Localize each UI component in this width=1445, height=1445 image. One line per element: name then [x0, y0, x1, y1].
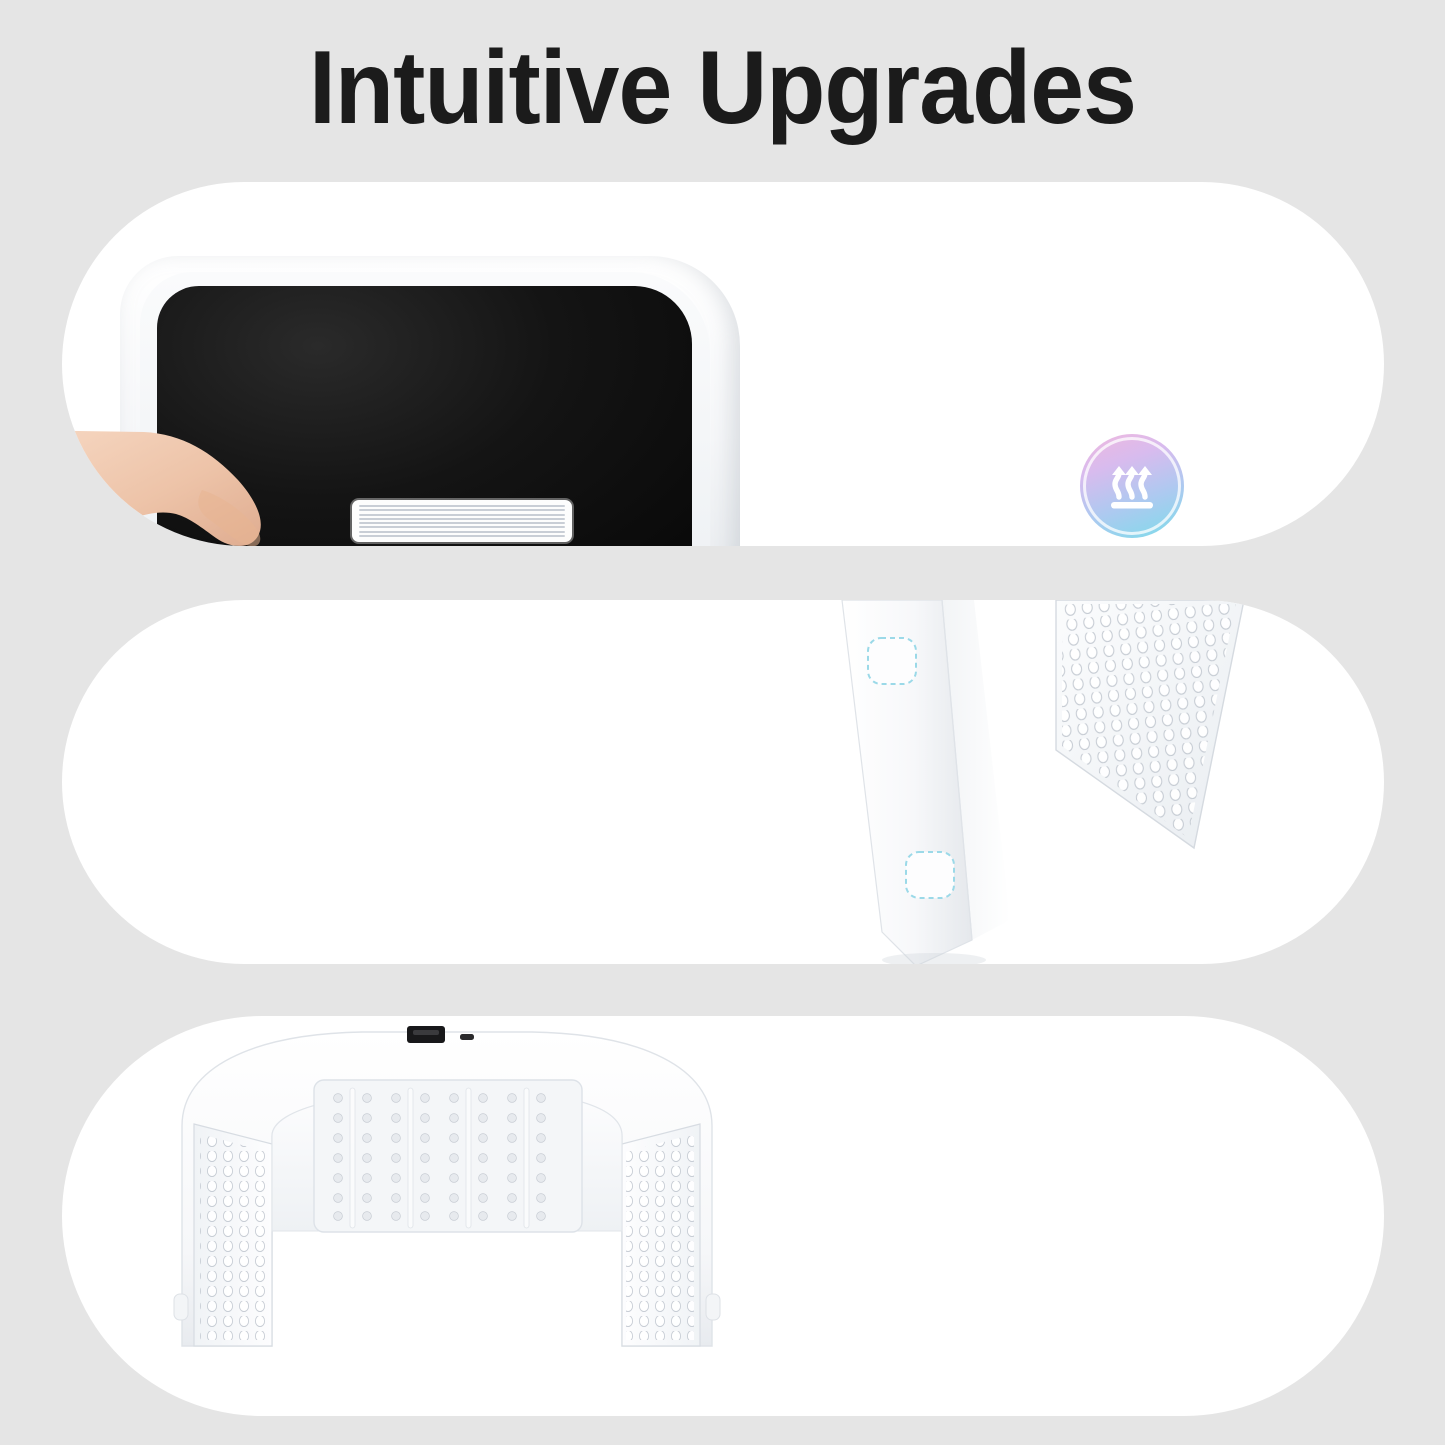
- control-panel-photo: Low Level LED Therapy POWER 8.8. RED GRE…: [62, 182, 822, 546]
- led-array-photo: [62, 1016, 852, 1416]
- vent-grille-icon: [352, 500, 572, 542]
- device-legs-photo: [824, 600, 1384, 964]
- led-device-illustration: [62, 1016, 852, 1416]
- rubber-foot-pad-lower: [906, 852, 954, 898]
- product-feature-infographic: Intuitive Upgrades: [0, 0, 1445, 1445]
- device-legs-illustration: [824, 600, 1384, 964]
- heat-waves-icon-badge: [1080, 434, 1184, 538]
- power-port: [460, 1034, 474, 1040]
- hand-pressing-button: [62, 418, 352, 546]
- rubber-foot-pad-upper: [868, 638, 916, 684]
- feature-card-slip-prevention: Slip Prevention Feet: [62, 600, 1384, 964]
- feature-card-smd-leds: 287 SMD LEDs: [62, 1016, 1384, 1416]
- page-title: Intuitive Upgrades: [51, 34, 1395, 143]
- feature-card-thermal-escape: Low Level LED Therapy POWER 8.8. RED GRE…: [62, 182, 1384, 546]
- heat-waves-icon: [1103, 457, 1161, 515]
